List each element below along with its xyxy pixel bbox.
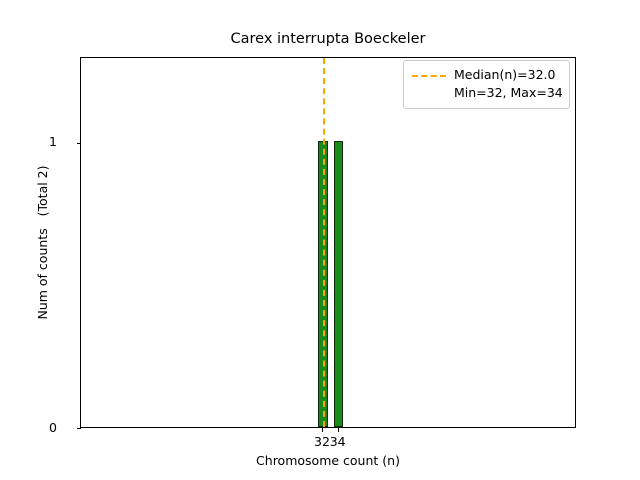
x-axis-label: Chromosome count (n) — [80, 453, 576, 469]
x-tick-label-34: 34 — [330, 435, 346, 449]
dashed-line-icon — [411, 66, 447, 84]
x-tick-mark-32 — [322, 428, 323, 432]
median-line — [323, 58, 325, 427]
legend: Median(n)=32.0 Min=32, Max=34 — [403, 60, 570, 109]
blank-sample-icon — [411, 84, 447, 102]
legend-item-minmax: Min=32, Max=34 — [411, 84, 562, 102]
legend-item-median: Median(n)=32.0 — [411, 66, 562, 84]
legend-label-median: Median(n)=32.0 — [454, 66, 555, 84]
plot-inner — [81, 58, 575, 427]
y-axis-label: Num of counts (Total 2) — [34, 57, 52, 428]
x-tick-mark-34 — [338, 428, 339, 432]
bar-34[interactable] — [334, 141, 343, 427]
page-title: Carex interrupta Boeckeler — [80, 31, 576, 48]
chart-figure: Carex interrupta Boeckeler 1 0 Num of co… — [0, 0, 640, 480]
plot-area: Median(n)=32.0 Min=32, Max=34 — [80, 57, 576, 428]
x-tick-label-32: 32 — [314, 435, 330, 449]
legend-label-minmax: Min=32, Max=34 — [454, 84, 563, 102]
